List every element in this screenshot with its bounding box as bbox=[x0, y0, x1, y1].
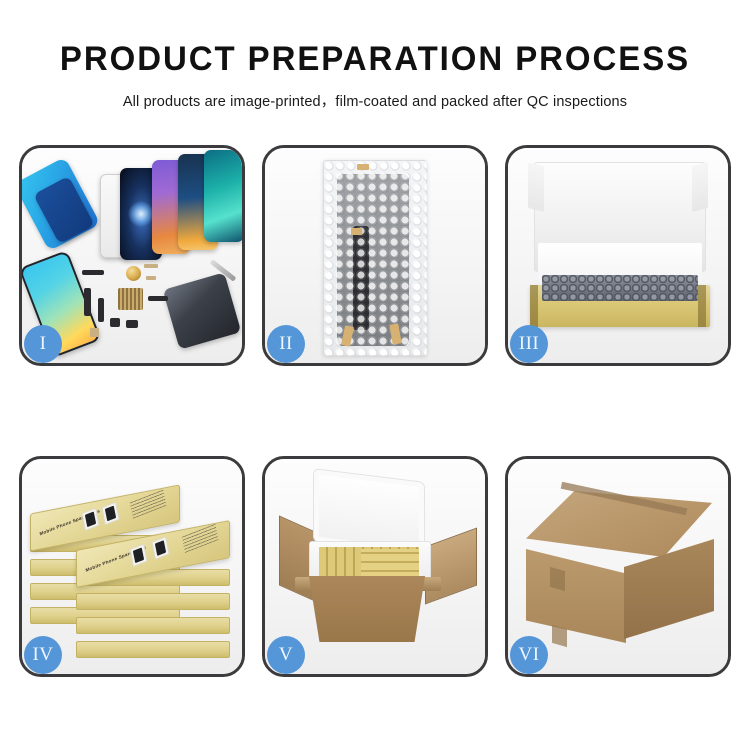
process-step-panel-5: V bbox=[262, 456, 488, 677]
phone-backplate-open bbox=[163, 272, 242, 349]
bubble-wrapped-contents bbox=[542, 275, 698, 301]
flex-cable-part-1 bbox=[82, 270, 104, 275]
page-title: PRODUCT PREPARATION PROCESS bbox=[11, 42, 739, 78]
retail-boxes-inside-stack bbox=[361, 549, 419, 579]
box-art-thumb-2 bbox=[101, 502, 119, 526]
camera-module-part bbox=[110, 318, 120, 327]
flex-cable-part-2 bbox=[84, 288, 91, 316]
flex-cable-part-3 bbox=[98, 298, 104, 322]
vibrator-part bbox=[126, 320, 138, 328]
process-step-panel-1: I bbox=[19, 145, 245, 366]
box-spec-lines-front bbox=[182, 523, 219, 553]
lid-flap-left bbox=[528, 162, 544, 212]
wrapped-part-inside bbox=[337, 174, 409, 346]
process-step-panel-6: VI bbox=[505, 456, 731, 677]
step-badge-4: IV bbox=[24, 636, 62, 674]
carton-tape-upper bbox=[550, 567, 565, 591]
flex-cable-part-4 bbox=[148, 296, 168, 301]
box-spec-lines-back bbox=[130, 489, 167, 519]
box-art-thumb-1 bbox=[81, 507, 99, 531]
process-step-panel-4: Mobile Phone Spare Parts Mobile Phone Sp… bbox=[19, 456, 245, 677]
stacked-box-right-2 bbox=[76, 593, 230, 610]
stacked-box-right-3 bbox=[76, 617, 230, 634]
process-step-grid: I II bbox=[19, 145, 732, 677]
product-preparation-infographic: PRODUCT PREPARATION PROCESS All products… bbox=[0, 0, 750, 750]
step-badge-2: II bbox=[267, 325, 305, 363]
page-subtitle: All products are image-printed，film-coat… bbox=[0, 90, 750, 111]
speaker-module-part bbox=[126, 266, 141, 281]
process-step-panel-3: III bbox=[505, 145, 731, 366]
box-art-thumb-4 bbox=[151, 536, 169, 560]
ic-chip-part bbox=[118, 288, 143, 310]
box-art-thumb-3 bbox=[129, 543, 147, 567]
carton-right-face bbox=[624, 539, 714, 639]
carton-tape-lower bbox=[552, 625, 567, 647]
part-flex-tail bbox=[353, 226, 369, 330]
sim-tray-part bbox=[144, 264, 158, 268]
step-badge-5: V bbox=[267, 636, 305, 674]
tape-piece-middle bbox=[351, 228, 362, 235]
stacked-box-right-4 bbox=[76, 641, 230, 658]
carton-front-panel bbox=[301, 576, 433, 642]
connector-part bbox=[146, 276, 156, 280]
retail-box-stack: Mobile Phone Spare Parts Mobile Phone Sp… bbox=[30, 477, 240, 667]
phone-display-teal bbox=[204, 150, 244, 242]
tape-piece-top bbox=[357, 164, 369, 170]
button-part bbox=[90, 328, 99, 337]
tray-side-left bbox=[530, 285, 538, 327]
carton-left-face bbox=[526, 549, 626, 643]
header: PRODUCT PREPARATION PROCESS All products… bbox=[0, 0, 750, 111]
process-step-panel-2: II bbox=[262, 145, 488, 366]
tray-side-right bbox=[698, 285, 706, 327]
carton-flap-right bbox=[425, 528, 477, 605]
step-badge-1: I bbox=[24, 325, 62, 363]
step-badge-6: VI bbox=[510, 636, 548, 674]
lid-flap-right bbox=[692, 162, 708, 212]
step-badge-3: III bbox=[510, 325, 548, 363]
